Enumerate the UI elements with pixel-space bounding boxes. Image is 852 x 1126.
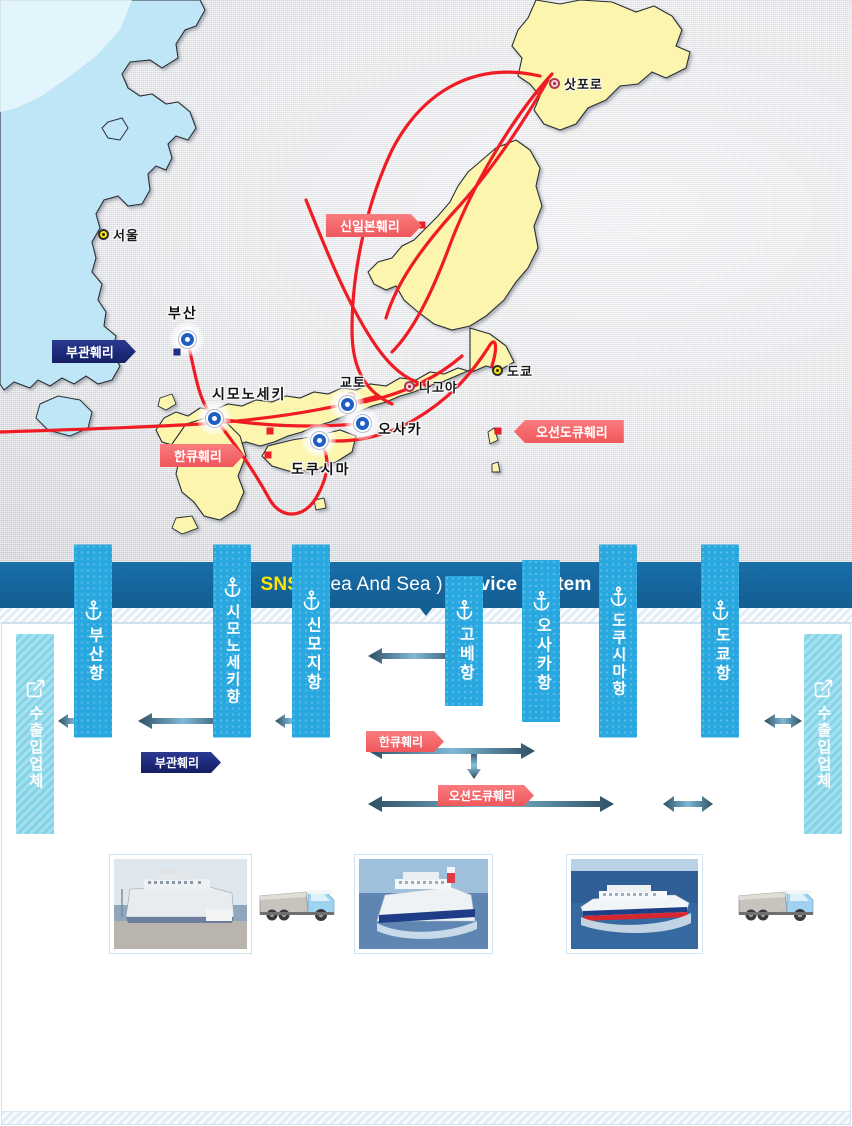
anchor-icon	[531, 590, 552, 611]
panel-footer-strip	[2, 1111, 850, 1124]
anchor-icon	[608, 585, 629, 606]
capital-dot-icon	[492, 365, 503, 376]
diagram-box-busan-port[interactable]: 부산항	[74, 545, 112, 738]
map-route-tag-shinnihon[interactable]: 신일본훼리	[326, 214, 422, 237]
city-label: 도쿄	[507, 361, 533, 380]
truck-image	[258, 882, 340, 928]
diagram-box-label: 시모노세키항	[224, 604, 240, 706]
diagram-box-tokyo-port[interactable]: 도쿄항	[701, 545, 739, 738]
port-label-osaka: 오사카	[378, 419, 423, 439]
photo-ferry-at-sea	[566, 854, 703, 954]
diagram-route-tag-bukwan[interactable]: 부관훼리	[141, 752, 221, 773]
city-marker: 삿포로	[549, 74, 603, 93]
connector-tokyo-exp	[764, 714, 802, 728]
diagram-box-shinmoji-port[interactable]: 신모지항	[292, 545, 330, 738]
photo-truck-right	[737, 882, 819, 928]
photo-inner	[114, 859, 247, 949]
ferry-sea-image	[571, 859, 698, 949]
port-marker-shimonoseki[interactable]	[197, 401, 231, 435]
diagram-box-kobe-port[interactable]: 고베항	[445, 576, 483, 706]
city-dot-icon	[404, 381, 415, 392]
diagram-box-label: 수출입업체	[27, 705, 43, 790]
city-marker: 나고야	[404, 377, 458, 396]
city-marker: 도쿄	[492, 361, 533, 380]
city-label: 나고야	[419, 377, 458, 396]
photo-inner	[359, 859, 488, 949]
photo-inner	[571, 859, 698, 949]
route-map: 삿포로 서울 나고야 도쿄 교토 부산 시모노세키	[0, 0, 852, 562]
service-system-diagram: 수출입업체 부산항 시모노세키항	[1, 623, 851, 1125]
external-link-icon	[813, 678, 834, 699]
port-ring-icon	[311, 432, 328, 449]
city-label: 서울	[113, 225, 139, 244]
port-label-shimonoseki: 시모노세키	[212, 384, 286, 404]
route-endpoint	[267, 428, 274, 435]
ferry-sailing-image	[359, 859, 488, 949]
diagram-box-export-import-right[interactable]: 수출입업체	[804, 634, 842, 834]
connector-tokushima-tokyo	[663, 796, 713, 812]
page-root: 삿포로 서울 나고야 도쿄 교토 부산 시모노세키	[0, 0, 852, 1126]
diagram-box-label: 도쿠시마항	[610, 612, 626, 697]
port-label-busan: 부산	[168, 303, 198, 323]
port-ring-icon	[206, 410, 223, 427]
anchor-icon	[83, 599, 104, 620]
port-marker-tokushima[interactable]	[302, 423, 336, 457]
port-ring-icon	[339, 396, 356, 413]
diagram-box-label: 고베항	[456, 626, 473, 683]
photo-truck-left	[258, 882, 340, 928]
diagram-box-label: 수출입업체	[815, 705, 831, 790]
diagram-box-label: 부산항	[85, 626, 102, 683]
route-endpoint	[174, 349, 181, 356]
external-link-icon	[25, 678, 46, 699]
route-endpoint	[265, 452, 272, 459]
map-route-tag-oceantokyu[interactable]: 오션도큐훼리	[514, 420, 624, 443]
port-label-tokushima: 도쿠시마	[291, 459, 351, 479]
anchor-icon	[454, 599, 475, 620]
city-marker: 서울	[98, 225, 139, 244]
anchor-icon	[222, 577, 243, 598]
diagram-route-tag-hankyu[interactable]: 한큐훼리	[366, 731, 444, 752]
diagram-box-label: 신모지항	[303, 617, 320, 693]
city-dot-icon	[549, 78, 560, 89]
diagram-box-tokushima-port[interactable]: 도쿠시마항	[599, 545, 637, 738]
diagram-route-tag-oceantokyu[interactable]: 오션도큐훼리	[438, 785, 534, 806]
diagram-box-shimonoseki-port[interactable]: 시모노세키항	[213, 545, 251, 738]
diagram-box-export-import-left[interactable]: 수출입업체	[16, 634, 54, 834]
banner-notch-icon	[419, 607, 433, 616]
map-route-tag-hankyu[interactable]: 한큐훼리	[160, 444, 244, 467]
diagram-box-label: 오사카항	[533, 617, 550, 693]
truck-image	[737, 882, 819, 928]
photo-ferry-docked	[109, 854, 252, 954]
route-endpoint	[495, 428, 502, 435]
port-ring-icon	[179, 331, 196, 348]
diagram-box-osaka-port[interactable]: 오사카항	[522, 560, 560, 722]
connector-kobe-down	[467, 752, 481, 779]
anchor-icon	[301, 590, 322, 611]
photo-ferry-sailing	[354, 854, 493, 954]
map-route-tag-bukwan[interactable]: 부관훼리	[52, 340, 136, 363]
map-geometry	[0, 0, 852, 562]
capital-dot-icon	[98, 229, 109, 240]
anchor-icon	[710, 599, 731, 620]
port-marker-kobe[interactable]	[330, 387, 364, 421]
ferry-docked-image	[114, 859, 247, 949]
city-label: 삿포로	[564, 74, 603, 93]
diagram-box-label: 도쿄항	[712, 626, 729, 683]
